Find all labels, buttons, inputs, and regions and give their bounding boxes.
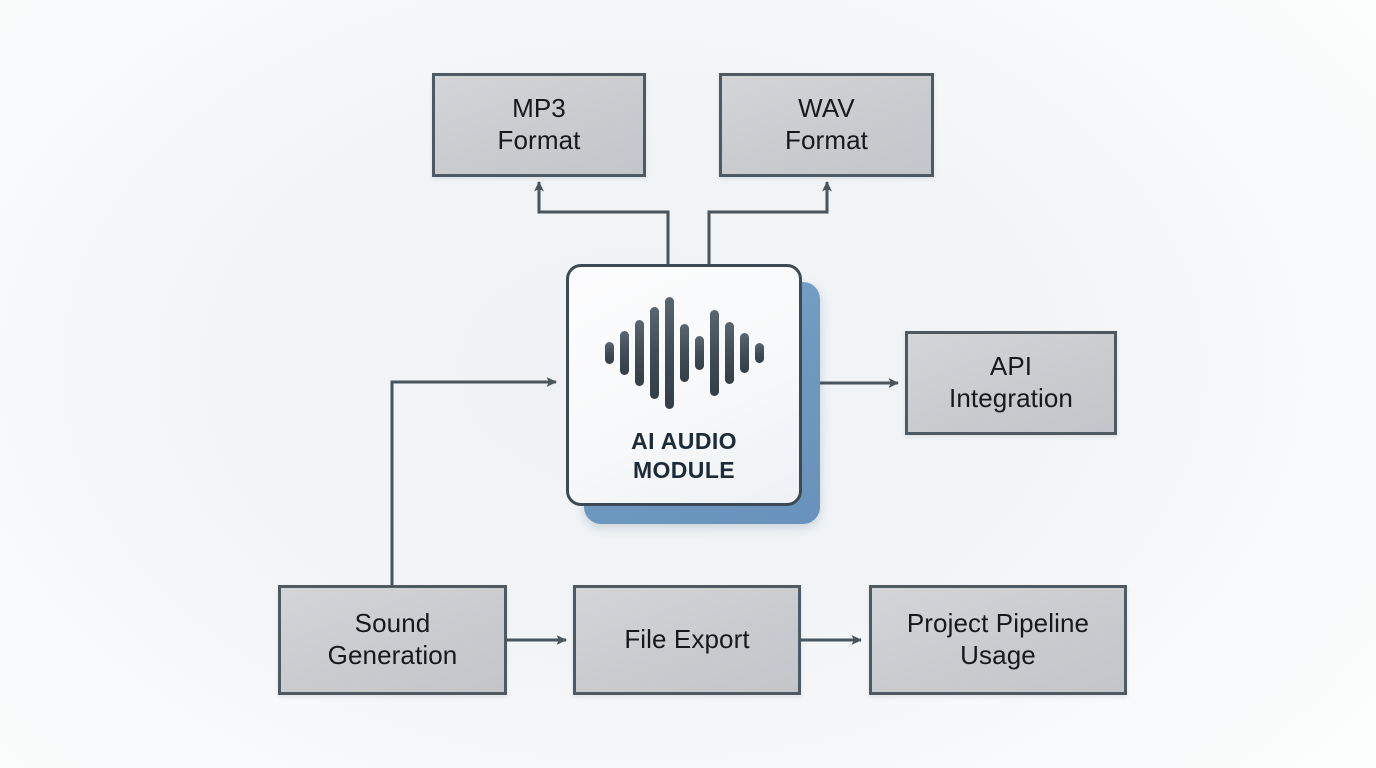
module-title: AI AUDIOMODULE [631, 427, 737, 485]
node-api-integration[interactable]: APIIntegration [905, 331, 1117, 435]
ai-audio-module-card[interactable]: AI AUDIOMODULE [566, 264, 802, 506]
node-project-pipeline-line1: Project Pipeline [907, 608, 1089, 638]
node-wav-format-label: WAVFormat [779, 93, 874, 156]
waveform-bar-5 [680, 324, 689, 382]
node-project-pipeline-label: Project PipelineUsage [901, 608, 1095, 671]
waveform-bar-0 [605, 342, 614, 364]
audio-waveform-icon [604, 297, 764, 409]
node-file-export-label: File Export [618, 624, 755, 656]
waveform-bar-7 [710, 310, 719, 396]
node-mp3-format[interactable]: MP3Format [432, 73, 646, 177]
waveform-bar-2 [635, 320, 644, 386]
node-api-integration-line2: Integration [949, 383, 1073, 413]
node-wav-format-line2: Format [785, 125, 868, 155]
module-title-line1: AI AUDIO [631, 428, 737, 454]
waveform-bar-6 [695, 336, 704, 370]
waveform-bar-10 [755, 343, 764, 363]
node-mp3-format-line2: Format [498, 125, 581, 155]
waveform-bar-3 [650, 307, 659, 399]
edge-module-to-wav [709, 182, 827, 264]
node-file-export[interactable]: File Export [573, 585, 801, 695]
node-wav-format-line1: WAV [798, 93, 855, 123]
diagram-canvas: MP3Format WAVFormat APIIntegration Sound… [0, 0, 1376, 768]
waveform-bar-1 [620, 331, 629, 375]
node-sound-generation-line1: Sound [355, 608, 431, 638]
node-api-integration-label: APIIntegration [943, 351, 1079, 414]
node-sound-generation-line2: Generation [328, 640, 458, 670]
node-mp3-format-label: MP3Format [492, 93, 587, 156]
edge-module-to-mp3 [539, 182, 668, 264]
node-project-pipeline-line2: Usage [960, 640, 1036, 670]
node-sound-generation-label: SoundGeneration [322, 608, 464, 671]
edge-sound-to-module [392, 382, 556, 585]
node-mp3-format-line1: MP3 [512, 93, 566, 123]
waveform-bar-4 [665, 297, 674, 409]
node-project-pipeline[interactable]: Project PipelineUsage [869, 585, 1127, 695]
node-api-integration-line1: API [990, 351, 1032, 381]
waveform-bar-9 [740, 333, 749, 373]
module-title-line2: MODULE [633, 457, 735, 483]
waveform-bar-8 [725, 322, 734, 384]
node-sound-generation[interactable]: SoundGeneration [278, 585, 507, 695]
node-wav-format[interactable]: WAVFormat [719, 73, 934, 177]
